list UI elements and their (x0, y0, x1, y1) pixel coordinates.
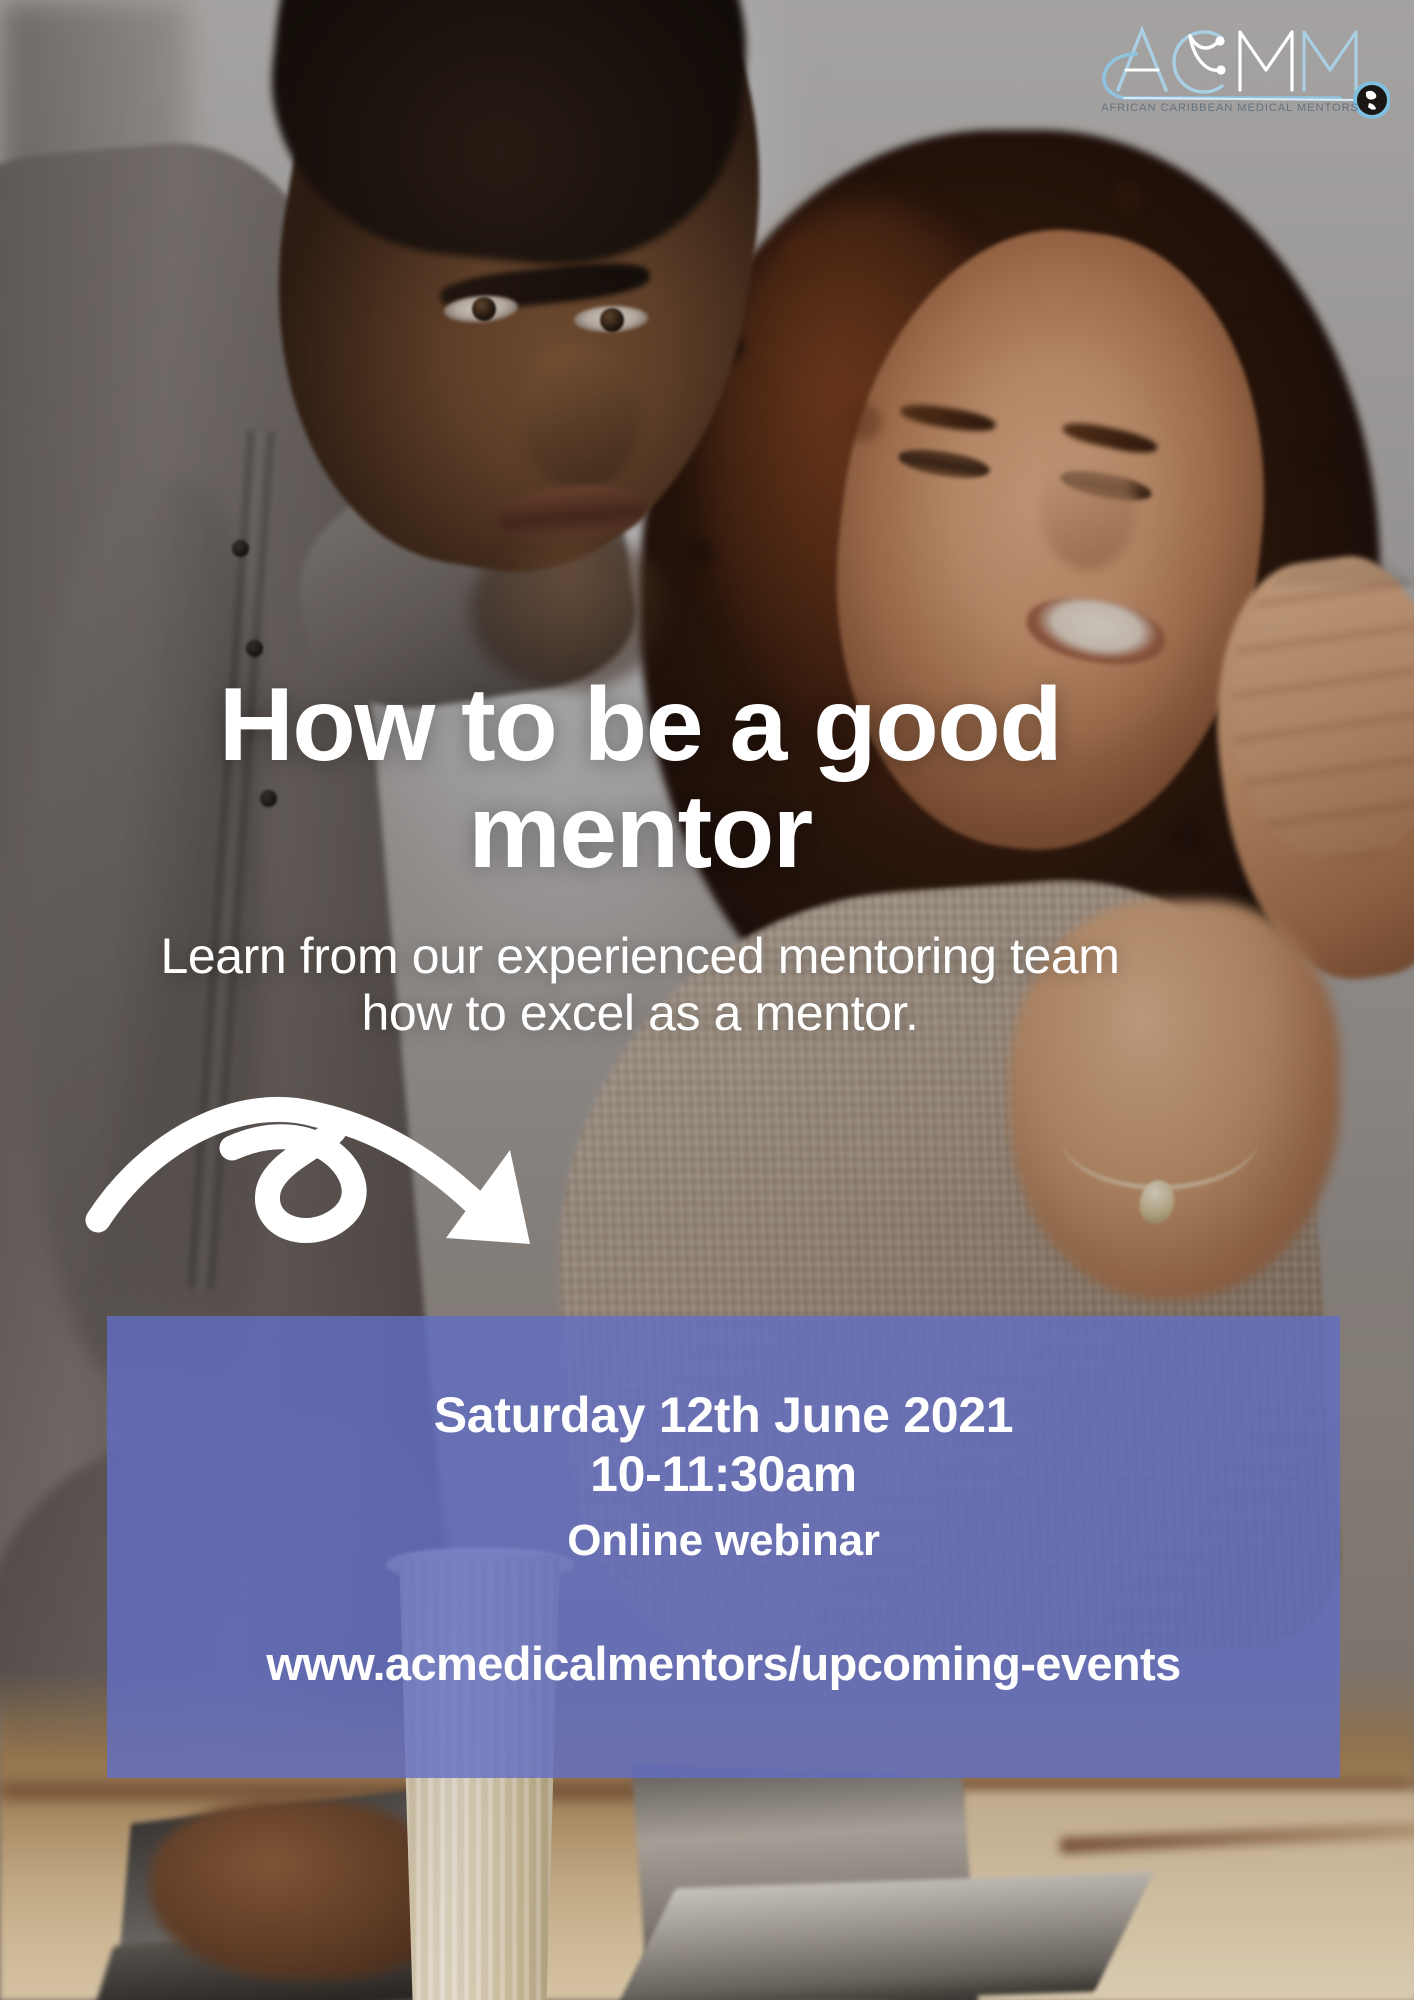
logo-tagline: AFRICAN CARIBBEAN MEDICAL MENTORS (1090, 102, 1370, 114)
acmm-logo: AFRICAN CARIBBEAN MEDICAL MENTORS (1090, 8, 1390, 126)
poster-canvas: AFRICAN CARIBBEAN MEDICAL MENTORS How to… (0, 0, 1414, 2000)
event-url-link[interactable]: www.acmedicalmentors/upcoming-events (107, 1636, 1340, 1691)
event-time: 10-11:30am (107, 1445, 1340, 1504)
page-title: How to be a good mentor (110, 672, 1170, 886)
page-subtitle: Learn from our experienced mentoring tea… (110, 928, 1170, 1042)
arrow-svg (80, 1070, 600, 1310)
event-datetime: Saturday 12th June 2021 10-11:30am (107, 1386, 1340, 1504)
event-details-panel: Saturday 12th June 2021 10-11:30am Onlin… (107, 1316, 1340, 1778)
curved-looping-arrow-icon (80, 1070, 600, 1310)
event-format: Online webinar (107, 1516, 1340, 1566)
event-date: Saturday 12th June 2021 (107, 1386, 1340, 1445)
